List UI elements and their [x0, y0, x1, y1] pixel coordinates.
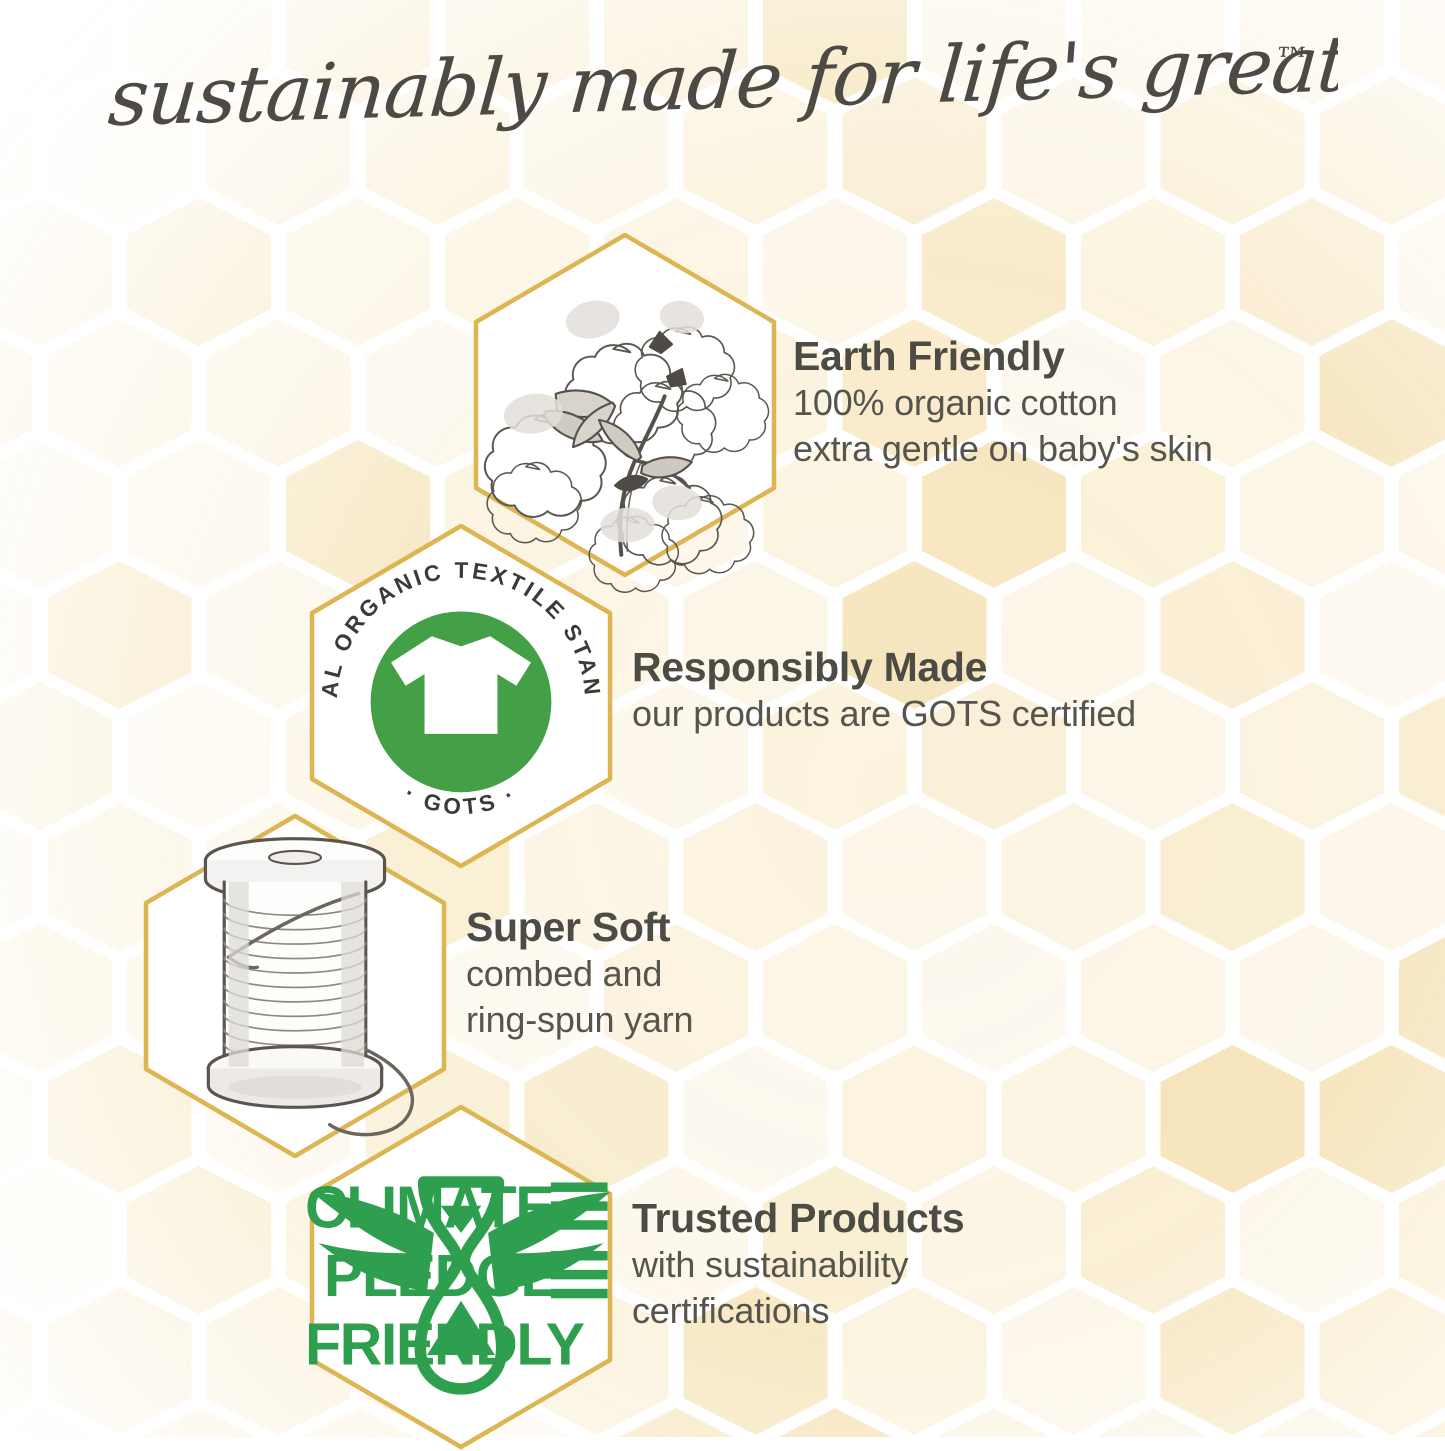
climate-pledge-friendly-icon: CLIMATE PLEDGE FRIENDLY	[305, 1103, 617, 1451]
hex-card-trusted-products: CLIMATE PLEDGE FRIENDLY	[305, 1103, 617, 1451]
caption-trusted-products: Trusted Products with sustainability cer…	[632, 1196, 964, 1334]
feature-title: Trusted Products	[632, 1196, 964, 1242]
infographic-canvas: sustainably made for life's greatest joy…	[0, 0, 1445, 1437]
feature-trusted-products: CLIMATE PLEDGE FRIENDLY	[0, 0, 1445, 1437]
feature-line-2: certifications	[632, 1288, 964, 1334]
winged-hourglass-icon	[305, 1103, 617, 1451]
feature-line-1: with sustainability	[632, 1242, 964, 1288]
